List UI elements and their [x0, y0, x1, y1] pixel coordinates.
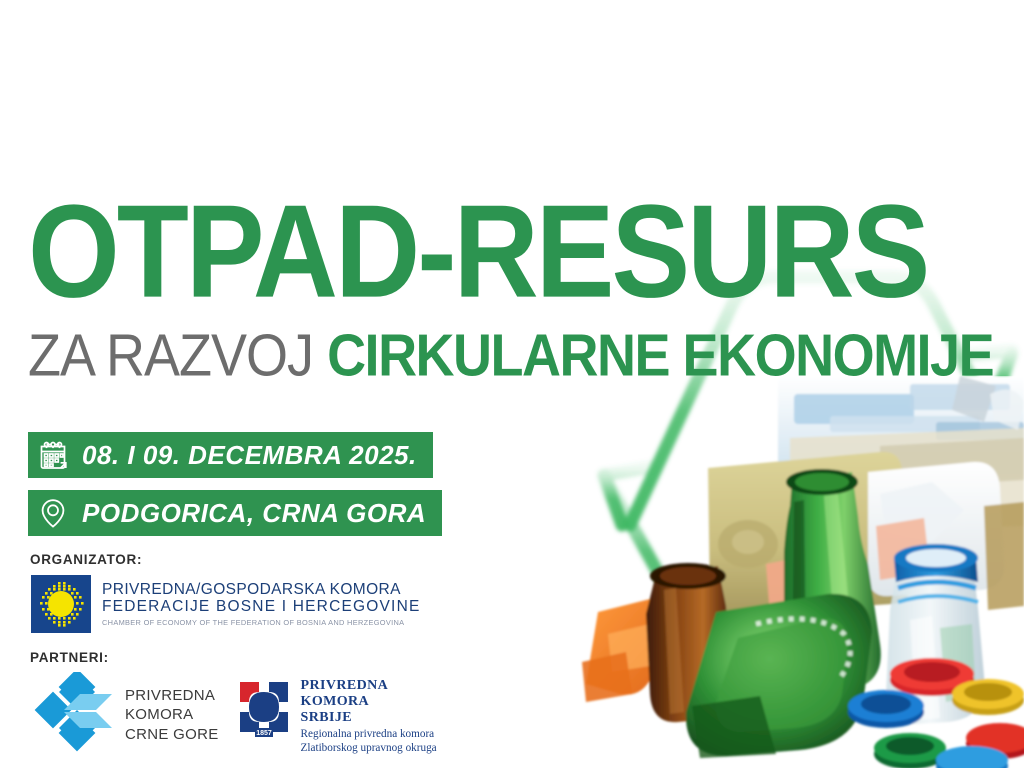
partner-pks: 1857 PRIVREDNA KOMORA SRBIJE Regionalna …: [235, 672, 437, 755]
organizer-name: PRIVREDNA/GOSPODARSKA KOMORA FEDERACIJE …: [102, 581, 421, 627]
organizer-line-3: CHAMBER OF ECONOMY OF THE FEDERATION OF …: [102, 619, 421, 627]
pks-line-3: SRBIJE: [301, 710, 437, 726]
partner-logos-row: PRIVREDNA KOMORA CRNE GORE: [30, 672, 437, 758]
pkcg-line-1: PRIVREDNA: [125, 686, 219, 706]
date-badge-label: 08. I 09. DECEMBRA 2025.: [82, 440, 417, 471]
pkcg-name: PRIVREDNA KOMORA CRNE GORE: [125, 686, 219, 745]
pks-line-2: KOMORA: [301, 694, 437, 710]
partners-section: PARTNERI:: [30, 650, 437, 758]
pkcg-line-2: KOMORA: [125, 705, 219, 725]
recyclable-waste-photo: [580, 376, 1024, 768]
calendar-icon: [36, 438, 70, 472]
subtitle-light-part: ZA RAZVOJ: [28, 322, 327, 388]
location-badge-label: PODGORICA, CRNA GORA: [82, 498, 426, 529]
pks-name: PRIVREDNA KOMORA SRBIJE Regionalna privr…: [301, 678, 437, 755]
subtitle-bold-part: CIRKULARNE EKONOMIJE: [327, 322, 993, 388]
pks-cross-logo: 1857: [235, 678, 293, 740]
organizer-logo-row: PRIVREDNA/GOSPODARSKA KOMORA FEDERACIJE …: [30, 574, 437, 634]
event-info-badges: 08. I 09. DECEMBRA 2025. PODGORICA, CRNA…: [28, 432, 442, 548]
pks-line-1: PRIVREDNA: [301, 678, 437, 694]
pks-sub-line-2: Zlatiborskog upravnog okruga: [301, 741, 437, 755]
pkcg-line-3: CRNE GORE: [125, 725, 219, 745]
headline-block: OTPAD-RESURS ZA RAZVOJ CIRKULARNE EKONOM…: [28, 188, 993, 380]
pks-subtitle: Regionalna privredna komora Zlatiborskog…: [301, 727, 437, 755]
location-badge: PODGORICA, CRNA GORA: [28, 490, 442, 536]
pks-sub-line-1: Regionalna privredna komora: [301, 727, 437, 741]
pks-title: PRIVREDNA KOMORA SRBIJE: [301, 678, 437, 727]
location-pin-icon: [36, 496, 70, 530]
partner-pkcg: PRIVREDNA KOMORA CRNE GORE: [30, 672, 219, 758]
partners-label: PARTNERI:: [30, 650, 437, 665]
date-badge: 08. I 09. DECEMBRA 2025.: [28, 432, 433, 478]
page-title: OTPAD-RESURS: [28, 188, 993, 318]
credits-section: ORGANIZATOR:: [30, 552, 437, 758]
page-subtitle: ZA RAZVOJ CIRKULARNE EKONOMIJE: [28, 326, 993, 385]
svg-text:1857: 1857: [256, 730, 272, 737]
event-poster: OTPAD-RESURS ZA RAZVOJ CIRKULARNE EKONOM…: [0, 0, 1024, 768]
pkcg-diamond-logo: [30, 672, 116, 758]
organizer-label: ORGANIZATOR:: [30, 552, 437, 567]
bih-chamber-sun-logo: [30, 574, 92, 634]
organizer-line-1: PRIVREDNA/GOSPODARSKA KOMORA: [102, 581, 421, 598]
organizer-line-2: FEDERACIJE BOSNE I HERCEGOVINE: [102, 598, 421, 615]
